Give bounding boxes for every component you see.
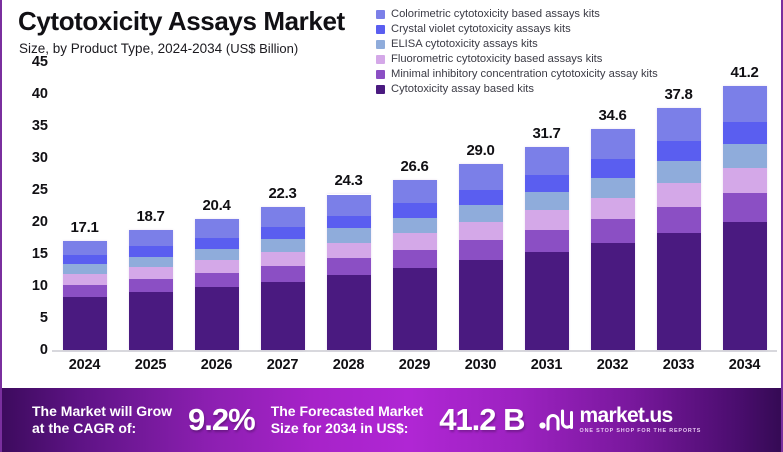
bar-segment <box>261 207 305 227</box>
bar-segment <box>459 205 503 222</box>
bar-segment <box>327 258 371 275</box>
bar-segment <box>261 239 305 252</box>
bar-segment <box>393 180 437 204</box>
bar-segment <box>393 233 437 250</box>
bar-column[interactable]: 24.3 <box>316 62 381 350</box>
logo-text: market.us ONE STOP SHOP FOR THE REPORTS <box>580 405 702 434</box>
bar-segment <box>63 285 107 297</box>
bar-value-label: 31.7 <box>514 125 579 142</box>
bar-segment <box>657 207 701 233</box>
bar-segment <box>657 141 701 161</box>
bar-segment <box>723 222 767 350</box>
y-axis-tick: 25 <box>32 182 48 198</box>
bar-segment <box>261 227 305 239</box>
bar-segment <box>459 222 503 240</box>
x-axis-tick: 2034 <box>712 357 777 373</box>
bar-column[interactable]: 37.8 <box>646 62 711 350</box>
bar-segment <box>129 246 173 256</box>
bar-segment <box>459 190 503 205</box>
chart-subtitle: Size, by Product Type, 2024-2034 (US$ Bi… <box>19 41 298 56</box>
bar-segment <box>591 129 635 160</box>
x-axis-tick: 2024 <box>52 357 117 373</box>
bar-segment <box>591 243 635 350</box>
legend-swatch-icon <box>376 10 385 19</box>
bar-stack <box>261 207 305 350</box>
bar-column[interactable]: 17.1 <box>52 62 117 350</box>
bar-segment <box>195 260 239 273</box>
bar-segment <box>459 164 503 190</box>
bar-segment <box>591 219 635 243</box>
bar-stack <box>393 180 437 350</box>
x-axis-line <box>52 350 777 352</box>
subtitle-unit: (US$ Billion) <box>226 41 298 56</box>
bar-segment <box>261 282 305 350</box>
bar-segment <box>195 287 239 350</box>
bar-stack <box>129 230 173 350</box>
forecast-label-line1: The Forecasted Market <box>271 403 424 419</box>
chart-page: Cytotoxicity Assays Market Size, by Prod… <box>0 0 783 452</box>
logo-tagline: ONE STOP SHOP FOR THE REPORTS <box>580 429 702 434</box>
bar-value-label: 29.0 <box>448 142 513 159</box>
bar-value-label: 17.1 <box>52 219 117 236</box>
y-axis-tick: 0 <box>40 342 48 358</box>
y-axis-tick: 40 <box>32 86 48 102</box>
bar-segment <box>525 147 569 175</box>
bar-segment <box>591 198 635 219</box>
bar-stack <box>459 164 503 350</box>
subtitle-text: Size, by Product Type, 2024-2034 <box>19 41 222 56</box>
footer-banner: The Market will Grow at the CAGR of: 9.2… <box>2 388 783 452</box>
x-axis-tick: 2031 <box>514 357 579 373</box>
bar-segment <box>459 240 503 260</box>
bar-segment <box>129 230 173 246</box>
bar-stack <box>327 194 371 350</box>
bar-segment <box>657 161 701 183</box>
bar-segment <box>327 216 371 229</box>
legend-item-label: Crystal violet cytotoxicity assays kits <box>391 24 571 35</box>
x-axis-tick: 2026 <box>184 357 249 373</box>
bar-segment <box>393 203 437 217</box>
x-axis-tick: 2025 <box>118 357 183 373</box>
bar-column[interactable]: 29.0 <box>448 62 513 350</box>
cagr-value: 9.2% <box>188 402 255 438</box>
bar-segment <box>657 108 701 141</box>
bar-column[interactable]: 34.6 <box>580 62 645 350</box>
y-axis-tick: 35 <box>32 118 48 134</box>
market-us-logo[interactable]: market.us ONE STOP SHOP FOR THE REPORTS <box>539 405 702 434</box>
bar-segment <box>525 192 569 210</box>
bar-segment <box>657 233 701 350</box>
bar-segment <box>525 175 569 192</box>
bar-segment <box>195 249 239 261</box>
bar-segment <box>723 144 767 168</box>
bar-stack <box>657 108 701 350</box>
bar-stack <box>63 241 107 350</box>
bar-segment <box>195 238 239 249</box>
y-axis-tick: 5 <box>40 310 48 326</box>
bar-segment <box>591 159 635 178</box>
bar-segment <box>195 219 239 238</box>
legend-item[interactable]: Colorimetric cytotoxicity based assays k… <box>376 7 776 21</box>
bar-column[interactable]: 22.3 <box>250 62 315 350</box>
y-axis-tick: 45 <box>32 54 48 70</box>
bar-column[interactable]: 41.2 <box>712 62 777 350</box>
bar-stack <box>723 86 767 350</box>
x-axis-tick: 2033 <box>646 357 711 373</box>
bar-segment <box>393 218 437 233</box>
bar-segment <box>327 243 371 258</box>
bar-value-label: 20.4 <box>184 197 249 214</box>
bar-segment <box>525 252 569 350</box>
x-axis-tick: 2030 <box>448 357 513 373</box>
market-us-logo-icon <box>539 408 573 432</box>
legend-item[interactable]: ELISA cytotoxicity assays kits <box>376 37 776 51</box>
legend-item[interactable]: Crystal violet cytotoxicity assays kits <box>376 22 776 36</box>
bar-stack <box>195 219 239 350</box>
x-axis-tick: 2027 <box>250 357 315 373</box>
bar-value-label: 18.7 <box>118 208 183 225</box>
bar-segment <box>723 168 767 194</box>
forecast-value: 41.2 B <box>439 402 524 438</box>
forecast-label: The Forecasted Market Size for 2034 in U… <box>271 403 424 438</box>
bar-value-label: 24.3 <box>316 172 381 189</box>
x-axis-tick: 2032 <box>580 357 645 373</box>
bar-column[interactable]: 20.4 <box>184 62 249 350</box>
bar-segment <box>327 275 371 350</box>
bar-value-label: 26.6 <box>382 158 447 175</box>
legend-swatch-icon <box>376 25 385 34</box>
bar-segment <box>393 250 437 269</box>
cagr-label-line1: The Market will Grow <box>32 403 172 419</box>
bar-column[interactable]: 31.7 <box>514 62 579 350</box>
plot-area: 051015202530354045 17.118.720.422.324.32… <box>2 62 783 382</box>
bar-segment <box>261 266 305 281</box>
bar-segment <box>723 122 767 144</box>
bar-segment <box>723 86 767 121</box>
legend-item-label: ELISA cytotoxicity assays kits <box>391 39 538 50</box>
bar-segment <box>63 297 107 350</box>
bar-segment <box>657 183 701 207</box>
bar-column[interactable]: 18.7 <box>118 62 183 350</box>
forecast-label-line2: Size for 2034 in US$: <box>271 420 409 436</box>
bar-value-label: 41.2 <box>712 64 777 81</box>
bar-value-label: 37.8 <box>646 86 711 103</box>
bar-segment <box>63 241 107 255</box>
page-title: Cytotoxicity Assays Market <box>18 6 345 37</box>
x-axis-tick: 2029 <box>382 357 447 373</box>
bar-segment <box>723 193 767 222</box>
bar-segment <box>393 268 437 350</box>
bar-stack <box>591 129 635 350</box>
bar-segment <box>459 260 503 350</box>
bar-segment <box>129 292 173 350</box>
bar-segment <box>195 273 239 287</box>
y-axis-tick: 20 <box>32 214 48 230</box>
bar-segment <box>129 257 173 268</box>
bar-segment <box>63 255 107 265</box>
y-axis-tick: 15 <box>32 246 48 262</box>
x-axis-tick: 2028 <box>316 357 381 373</box>
bar-stack <box>525 147 569 350</box>
y-axis: 051015202530354045 <box>14 62 48 350</box>
bar-segment <box>591 178 635 198</box>
bar-segment <box>129 267 173 279</box>
y-axis-tick: 30 <box>32 150 48 166</box>
y-axis-tick: 10 <box>32 278 48 294</box>
bar-segment <box>129 279 173 292</box>
cagr-label: The Market will Grow at the CAGR of: <box>32 403 172 438</box>
bar-segment <box>261 252 305 266</box>
bar-segment <box>525 230 569 252</box>
bar-column[interactable]: 26.6 <box>382 62 447 350</box>
bar-segment <box>327 195 371 216</box>
bar-group: 17.118.720.422.324.326.629.031.734.637.8… <box>52 62 777 350</box>
bar-segment <box>63 264 107 274</box>
bar-segment <box>327 228 371 242</box>
legend-item-label: Colorimetric cytotoxicity based assays k… <box>391 9 600 20</box>
cagr-label-line2: at the CAGR of: <box>32 420 136 436</box>
bar-value-label: 22.3 <box>250 185 315 202</box>
bar-segment <box>525 210 569 230</box>
bar-segment <box>63 274 107 285</box>
bar-value-label: 34.6 <box>580 107 645 124</box>
legend-swatch-icon <box>376 40 385 49</box>
x-axis: 2024202520262027202820292030203120322033… <box>52 357 777 373</box>
logo-name: market.us <box>580 405 702 426</box>
